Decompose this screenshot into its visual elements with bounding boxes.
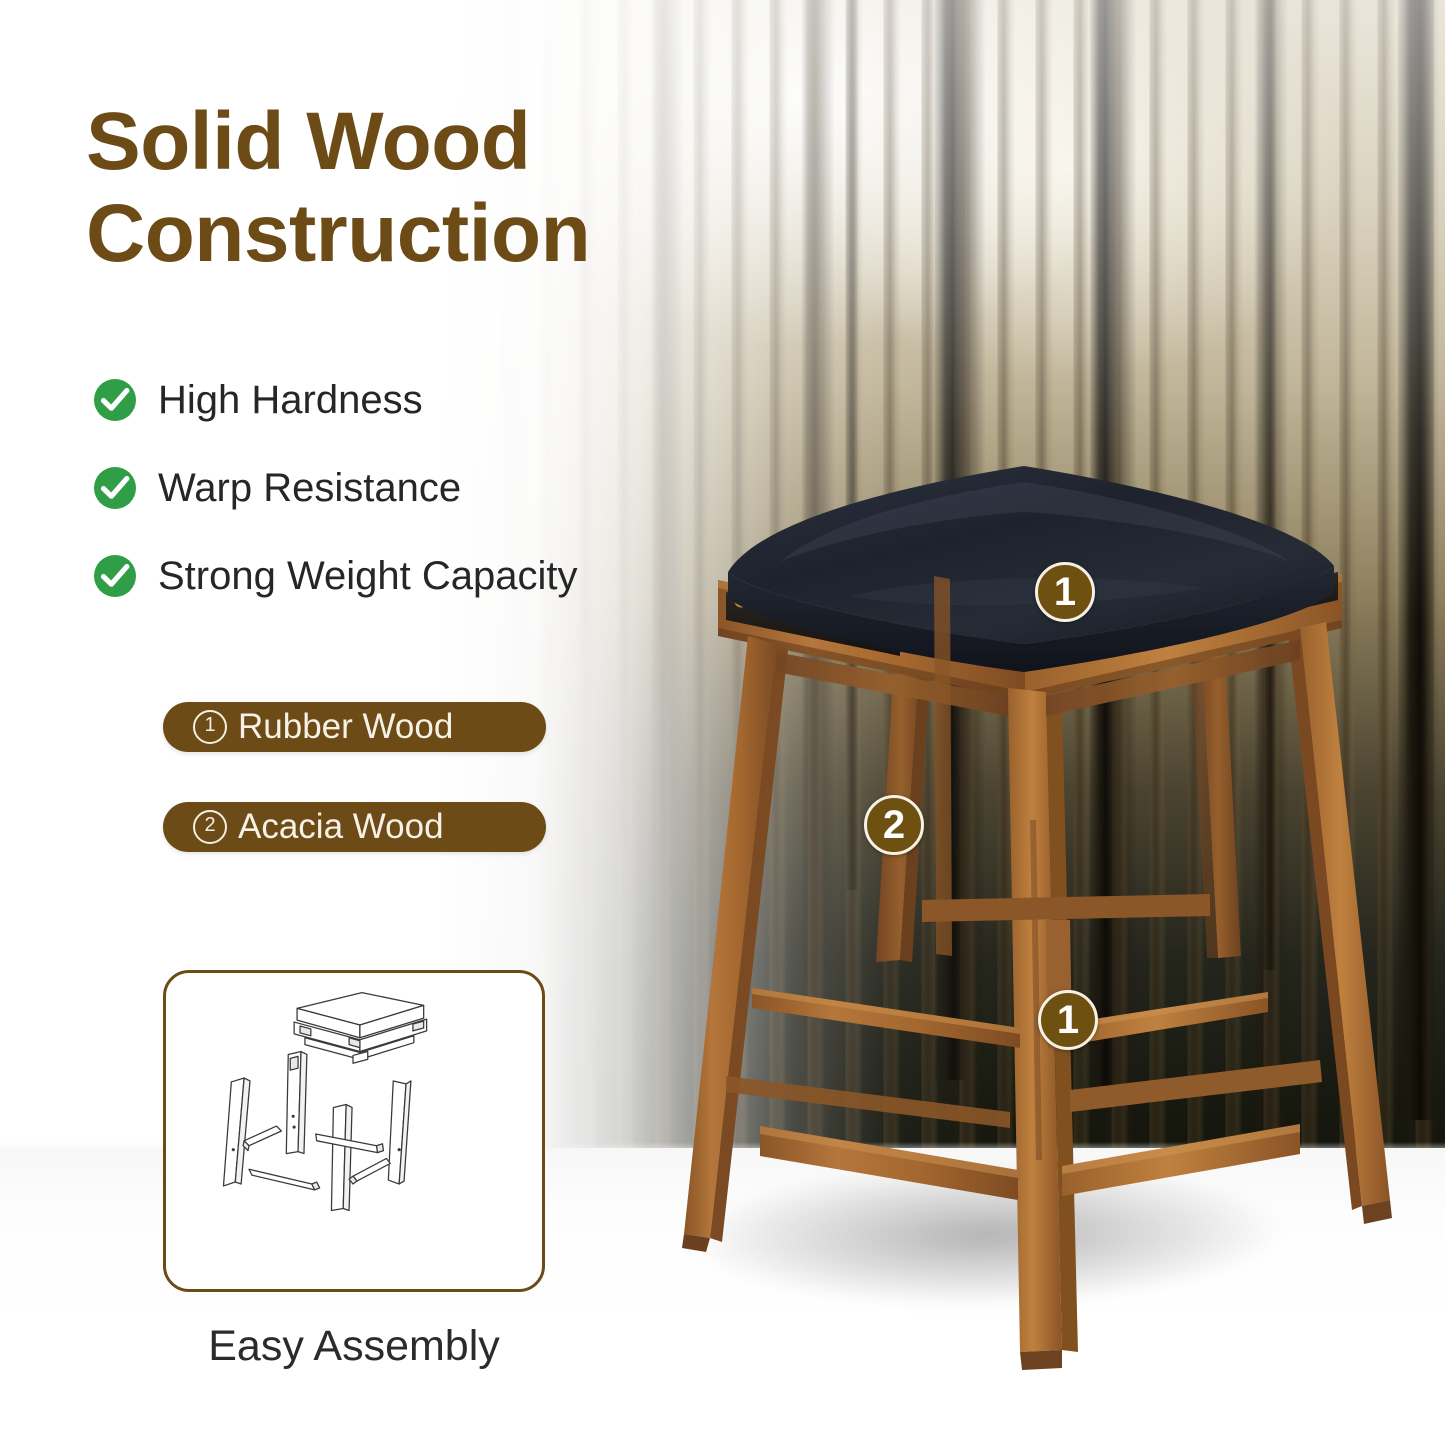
product-infographic: Solid Wood Construction High Hardness Wa… [0, 0, 1445, 1445]
check-circle-icon [92, 553, 138, 599]
legend-pill-acacia-wood: 2 Acacia Wood [163, 802, 546, 852]
assembly-caption: Easy Assembly [163, 1322, 545, 1371]
callout-marker-2-leg: 2 [864, 795, 924, 855]
stretcher-lower-left [726, 1076, 1010, 1128]
exploded-stool-diagram-icon [166, 973, 542, 1289]
stool-leg-front-left [682, 636, 788, 1252]
legend-pill-rubber-wood: 1 Rubber Wood [163, 702, 546, 752]
assembly-diagram-box [163, 970, 545, 1292]
footrest-rail-side-right [1070, 1060, 1322, 1112]
check-circle-icon [92, 465, 138, 511]
callout-marker-1-seat: 1 [1035, 562, 1095, 622]
feature-label: High Hardness [158, 378, 423, 423]
feature-label: Strong Weight Capacity [158, 554, 577, 599]
rear-leg-upper [934, 576, 952, 956]
bar-stool-product-image [600, 400, 1445, 1400]
legend-number-badge: 2 [193, 810, 227, 844]
legend-number-badge: 1 [193, 710, 227, 744]
page-title: Solid Wood Construction [86, 96, 726, 280]
legend-label: Acacia Wood [238, 807, 444, 847]
feature-label: Warp Resistance [158, 466, 461, 511]
check-circle-icon [92, 377, 138, 423]
stretcher-rear [922, 894, 1210, 922]
callout-marker-1-footrest: 1 [1038, 990, 1098, 1050]
material-legend: 1 Rubber Wood 2 Acacia Wood [163, 702, 546, 902]
stool-leg-front-right [1288, 622, 1392, 1224]
legend-label: Rubber Wood [238, 707, 453, 747]
stretcher-upper-left [752, 988, 1020, 1048]
